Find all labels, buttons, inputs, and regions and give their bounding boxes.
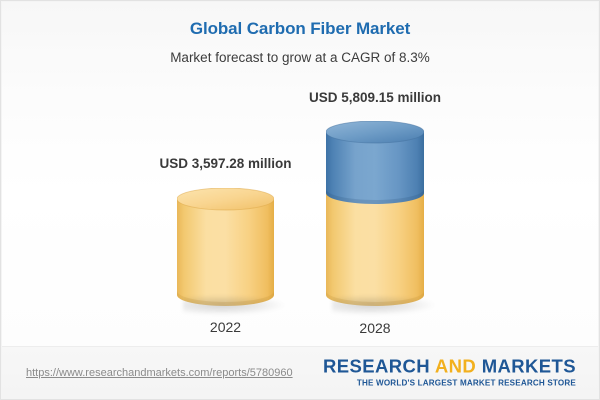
cylinder-shadow-2028	[332, 295, 434, 315]
cylinder-2022[interactable]	[177, 188, 274, 306]
bar-category-label-2022: 2022	[210, 319, 241, 335]
bar-value-label-2022: USD 3,597.28 million	[159, 156, 291, 171]
bar-category-label-2028: 2028	[359, 320, 390, 336]
brand-word-research: RESEARCH	[323, 355, 435, 376]
cylinder-2028-svg	[326, 121, 424, 306]
bar-value-label-2028: USD 5,809.15 million	[309, 90, 441, 105]
cylinder-shadow-2022	[183, 295, 284, 315]
chart-plot-area: USD 3,597.28 million	[1, 1, 600, 347]
brand-tagline: THE WORLD'S LARGEST MARKET RESEARCH STOR…	[323, 380, 576, 388]
footer: https://www.researchandmarkets.com/repor…	[2, 346, 598, 398]
brand-logo[interactable]: RESEARCH AND MARKETS THE WORLD'S LARGEST…	[323, 357, 576, 388]
brand-wordmark: RESEARCH AND MARKETS	[323, 357, 576, 376]
brand-word-and: AND	[435, 355, 482, 376]
report-url-link[interactable]: https://www.researchandmarkets.com/repor…	[26, 367, 293, 379]
market-forecast-infographic: Global Carbon Fiber Market Market foreca…	[0, 0, 600, 400]
cylinder-2028[interactable]	[326, 121, 424, 306]
brand-word-markets: MARKETS	[482, 355, 576, 376]
cylinder-2022-svg	[177, 188, 274, 306]
